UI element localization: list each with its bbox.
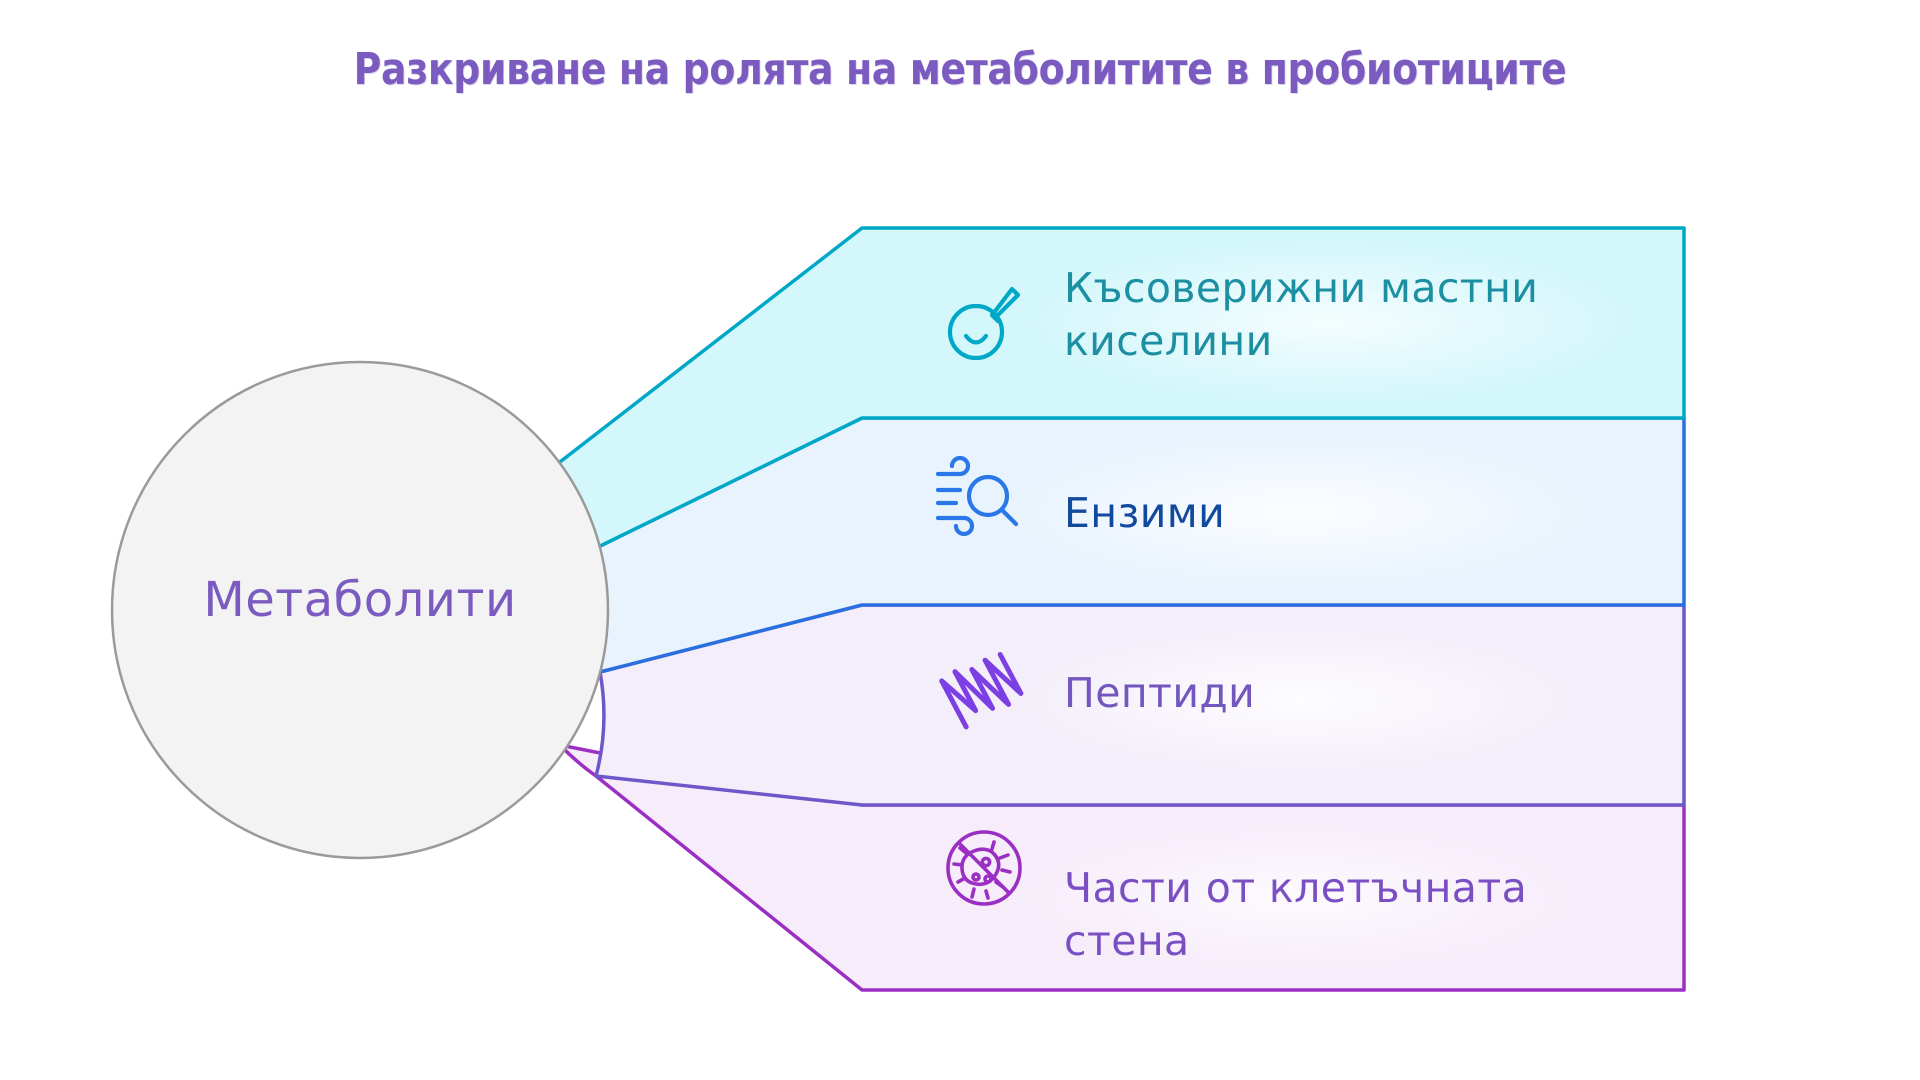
- band-label-scfa: Късоверижни мастни киселини: [1064, 262, 1538, 369]
- band-label-peptides: Пептиди: [1064, 667, 1255, 720]
- diagram-canvas: Разкриване на ролята на метаболитите в п…: [0, 0, 1920, 1080]
- center-node-label: Метаболити: [120, 572, 600, 628]
- band-label-cell-wall: Части от клетъчната стена: [1064, 862, 1527, 969]
- flask-bacteria-icon: [936, 274, 1032, 370]
- no-bacteria-icon: [936, 820, 1032, 916]
- magnifier-airflow-icon: [930, 450, 1026, 546]
- band-label-enzymes: Ензими: [1064, 487, 1225, 540]
- peptide-chain-icon: [936, 640, 1032, 736]
